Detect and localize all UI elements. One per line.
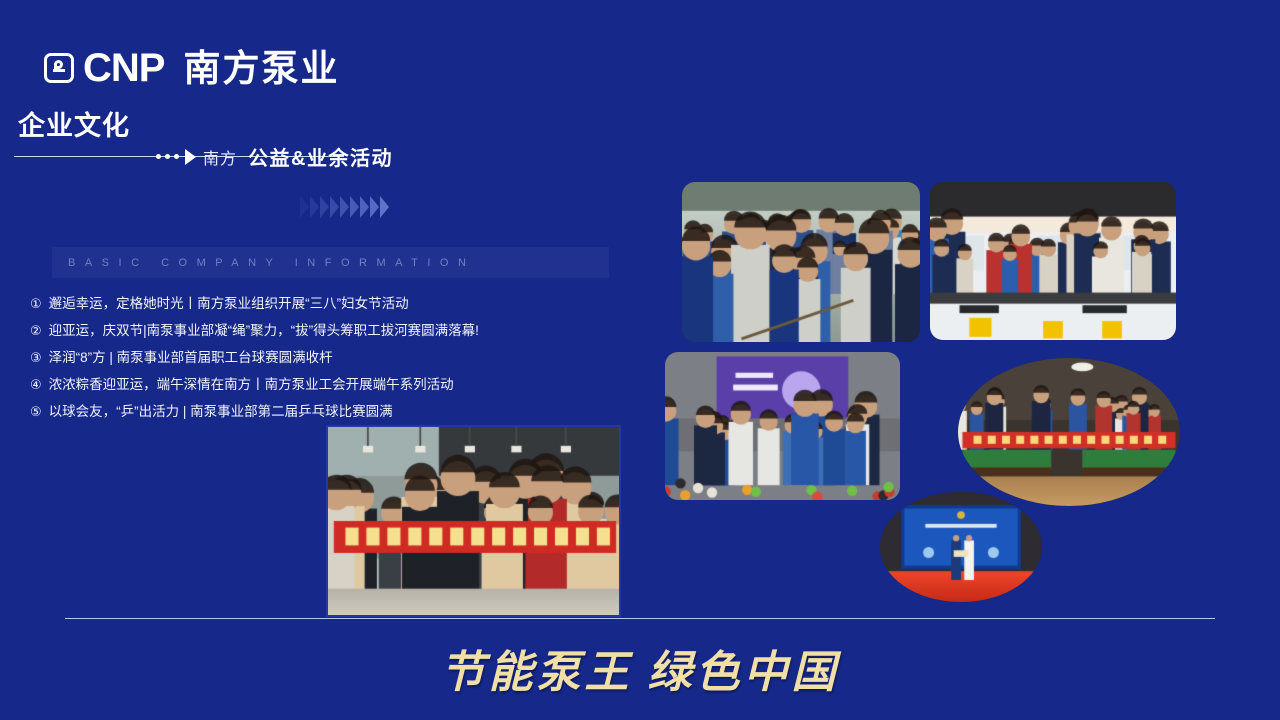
cnp-logo-icon (44, 53, 74, 83)
list-item-number: ⑤ (30, 398, 42, 425)
chevron-right-icon (340, 196, 349, 218)
subtitle-main: 公益&业余活动 (248, 142, 393, 171)
chevron-right-icon (360, 196, 369, 218)
list-item-label: 邂逅幸运，定格她时光丨南方泵业组织开展“三八”妇女节活动 (49, 290, 650, 317)
list-item-label: 以球会友，“乒”出活力 | 南泵事业部第二届乒乓球比赛圆满 (49, 398, 650, 425)
list-item-number: ④ (30, 371, 42, 398)
slide-root: CNP 南方泵业 企业文化 南方 公益&业余活动 BASIC COMPANY I… (0, 0, 1280, 720)
page-title: 企业文化 (18, 112, 654, 140)
list-item-number: ① (30, 290, 42, 317)
photo-award (880, 492, 1042, 602)
brand-chinese-name: 南方泵业 (183, 50, 339, 87)
triangle-right-icon (185, 149, 196, 165)
brand-logo: CNP 南方泵业 (44, 48, 339, 88)
list-item-number: ③ (30, 344, 42, 371)
list-item[interactable]: ①邂逅幸运，定格她时光丨南方泵业组织开展“三八”妇女节活动 (30, 290, 650, 317)
list-item[interactable]: ⑤以球会友，“乒”出活力 | 南泵事业部第二届乒乓球比赛圆满 (30, 398, 650, 425)
list-item[interactable]: ②迎亚运，庆双节|南泵事业部凝“绳”聚力，“拔”得头筹职工拔河赛圆满落幕! (30, 317, 650, 344)
chevron-right-icon (370, 196, 379, 218)
list-item[interactable]: ③泽润“8”方 | 南泵事业部首届职工台球赛圆满收杆 (30, 344, 650, 371)
list-item-label: 浓浓粽香迎亚运，端午深情在南方丨南方泵业工会开展端午系列活动 (49, 371, 650, 398)
photo-billiards (958, 358, 1180, 506)
chevron-right-icon (330, 196, 339, 218)
footer-divider (65, 618, 1215, 619)
chevron-decoration (300, 196, 389, 218)
photo-tugofwar (682, 182, 920, 342)
subtitle-prefix: 南方 (203, 145, 237, 169)
section-header: 企业文化 南方 公益&业余活动 (14, 112, 654, 140)
list-item-label: 泽润“8”方 | 南泵事业部首届职工台球赛圆满收杆 (49, 344, 650, 371)
photo-gamesday (665, 352, 900, 500)
chevron-right-icon (320, 196, 329, 218)
activity-list: ①邂逅幸运，定格她时光丨南方泵业组织开展“三八”妇女节活动②迎亚运，庆双节|南泵… (30, 290, 650, 425)
chevron-right-icon (380, 196, 389, 218)
chevron-right-icon (310, 196, 319, 218)
chevron-right-icon (300, 196, 309, 218)
footer-slogan: 节能泵王 绿色中国 (0, 636, 1280, 700)
basic-info-band: BASIC COMPANY INFORMATION (52, 247, 609, 278)
photo-cooking (930, 182, 1176, 340)
chevron-right-icon (350, 196, 359, 218)
list-item-number: ② (30, 317, 42, 344)
section-subtitle-group: 南方 公益&业余活动 (156, 142, 393, 171)
three-dots-icon (156, 154, 179, 159)
list-item-label: 迎亚运，庆双节|南泵事业部凝“绳”聚力，“拔”得头筹职工拔河赛圆满落幕! (49, 317, 650, 344)
basic-info-label: BASIC COMPANY INFORMATION (52, 257, 475, 269)
photo-pingpong (328, 427, 619, 615)
list-item[interactable]: ④浓浓粽香迎亚运，端午深情在南方丨南方泵业工会开展端午系列活动 (30, 371, 650, 398)
brand-latin-name: CNP (83, 48, 164, 88)
